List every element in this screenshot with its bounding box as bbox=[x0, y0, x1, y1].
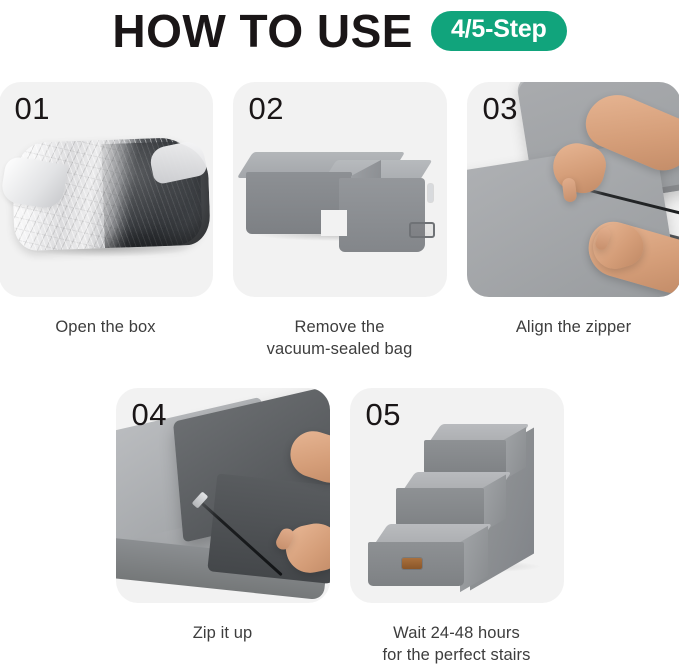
step-02-caption-line1: Remove the bbox=[267, 317, 413, 339]
step-card-05[interactable]: 05 Wait 24-48 hours for the perfect stai… bbox=[350, 388, 564, 667]
step-04-image-card[interactable]: 04 bbox=[116, 388, 330, 603]
step-01-caption: Open the box bbox=[55, 317, 155, 339]
step-02-image-card[interactable]: 02 bbox=[233, 82, 447, 297]
step-05-caption: Wait 24-48 hours for the perfect stairs bbox=[382, 623, 530, 667]
step-04-caption: Zip it up bbox=[193, 623, 253, 645]
step-05-caption-line1: Wait 24-48 hours bbox=[382, 623, 530, 645]
stair-2-front bbox=[396, 488, 484, 528]
plastic-flap-left bbox=[0, 155, 68, 210]
bag-handle bbox=[409, 222, 435, 238]
step-05-caption-line2: for the perfect stairs bbox=[382, 645, 530, 667]
step-01-number: 01 bbox=[15, 90, 50, 127]
page-title: HOW TO USE bbox=[112, 8, 413, 54]
brand-leather-tag bbox=[402, 558, 422, 569]
step-05-number: 05 bbox=[366, 396, 401, 433]
steps-row-bottom: 04 Zip it up 05 Wait bbox=[0, 388, 679, 667]
step-05-image-card[interactable]: 05 bbox=[350, 388, 564, 603]
step-04-number: 04 bbox=[132, 396, 167, 433]
step-02-caption: Remove the vacuum-sealed bag bbox=[267, 317, 413, 361]
step-02-number: 02 bbox=[249, 90, 284, 127]
bag-front-panel-right bbox=[339, 178, 425, 252]
step-02-caption-line2: vacuum-sealed bag bbox=[267, 339, 413, 361]
step-04-caption-line1: Zip it up bbox=[193, 623, 253, 645]
step-03-caption-line1: Align the zipper bbox=[516, 317, 631, 339]
step-03-caption: Align the zipper bbox=[516, 317, 631, 339]
step-card-01[interactable]: 01 Open the box bbox=[0, 82, 213, 361]
steps-row-top: 01 Open the box 02 bbox=[0, 82, 679, 361]
page-header: HOW TO USE 4/5-Step bbox=[0, 0, 679, 62]
step-01-caption-line1: Open the box bbox=[55, 317, 155, 339]
step-card-04[interactable]: 04 Zip it up bbox=[116, 388, 330, 667]
step-03-image-card[interactable]: 03 bbox=[467, 82, 679, 297]
step-03-number: 03 bbox=[483, 90, 518, 127]
step-card-02[interactable]: 02 Remove the vacuum-sealed bag bbox=[233, 82, 447, 361]
bag-notch-cutout bbox=[321, 210, 347, 236]
step-card-03[interactable]: 03 Align the zipper bbox=[467, 82, 679, 361]
stair-1-front bbox=[424, 440, 506, 476]
step-01-image-card[interactable]: 01 bbox=[0, 82, 213, 297]
step-count-badge: 4/5-Step bbox=[431, 11, 567, 51]
bag-zipper-pull bbox=[428, 184, 433, 202]
